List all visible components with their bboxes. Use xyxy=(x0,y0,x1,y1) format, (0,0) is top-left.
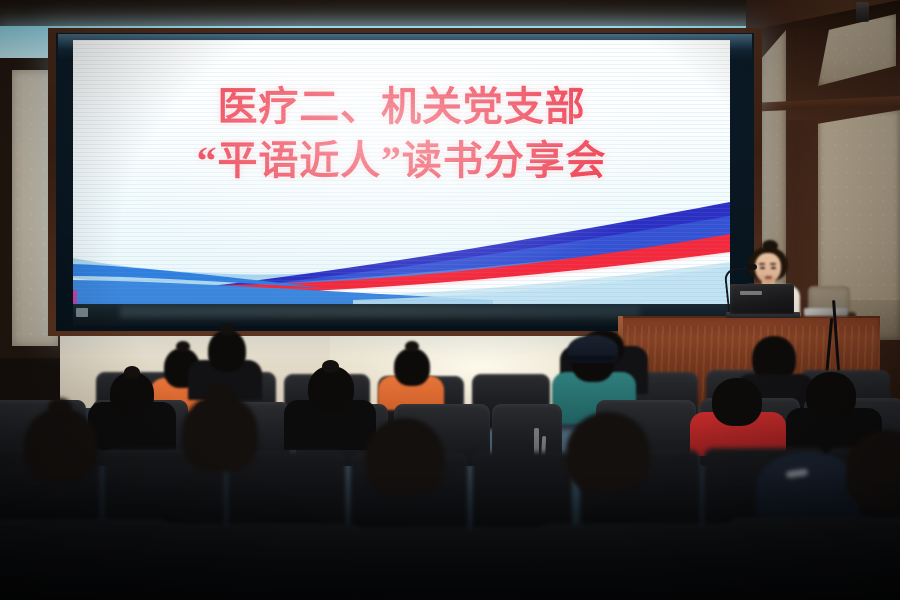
attendee-head xyxy=(24,408,98,482)
microphone-head xyxy=(747,264,757,270)
seat xyxy=(730,518,900,600)
attendee-head xyxy=(806,372,856,420)
screen-glass-reflection xyxy=(120,306,640,318)
seat xyxy=(350,528,550,600)
seat xyxy=(160,524,360,600)
attendee-cap-brim xyxy=(566,356,616,361)
slide-title: 医疗二、机关党支部 “平语近人”读书分享会 xyxy=(73,84,730,185)
attendee-head xyxy=(712,378,762,426)
attendee-hair-bun xyxy=(220,324,235,336)
presenter-mouth xyxy=(765,276,772,279)
led-display: 医疗二、机关党支部 “平语近人”读书分享会 xyxy=(73,40,730,306)
attendee-head xyxy=(208,330,246,372)
attendee-head xyxy=(566,412,650,494)
slide-ribbon-graphic xyxy=(73,196,730,306)
laptop-icon xyxy=(730,284,794,314)
presenter-eyebrow-right xyxy=(770,263,776,265)
attendee-cap-icon xyxy=(756,452,860,522)
presenter-eyebrow-left xyxy=(759,263,765,265)
attendee-head xyxy=(366,418,444,496)
attendee-head xyxy=(182,394,258,472)
screen-corner-label xyxy=(76,308,88,317)
slide-title-line-1: 医疗二、机关党支部 xyxy=(73,84,730,130)
auditorium-photo: 医疗二、机关党支部 “平语近人”读书分享会 xyxy=(0,0,900,600)
attendee-hair-bun xyxy=(322,360,339,373)
attendee-hair-bun xyxy=(405,341,419,352)
attendee-hair-bun xyxy=(48,398,72,417)
seat xyxy=(540,524,740,600)
attendee-hair-bun xyxy=(208,384,233,404)
wall-speaker-icon xyxy=(856,2,869,22)
slide-title-line-2: “平语近人”读书分享会 xyxy=(73,138,730,184)
attendee-head xyxy=(394,348,430,386)
laptop-brand-logo xyxy=(740,291,762,295)
presenter-hair-bun xyxy=(762,240,778,252)
attendee-hair-bun xyxy=(124,366,140,379)
podium-desk-items xyxy=(804,308,848,316)
attendee-hair-bun xyxy=(176,341,190,352)
seat xyxy=(0,520,170,600)
